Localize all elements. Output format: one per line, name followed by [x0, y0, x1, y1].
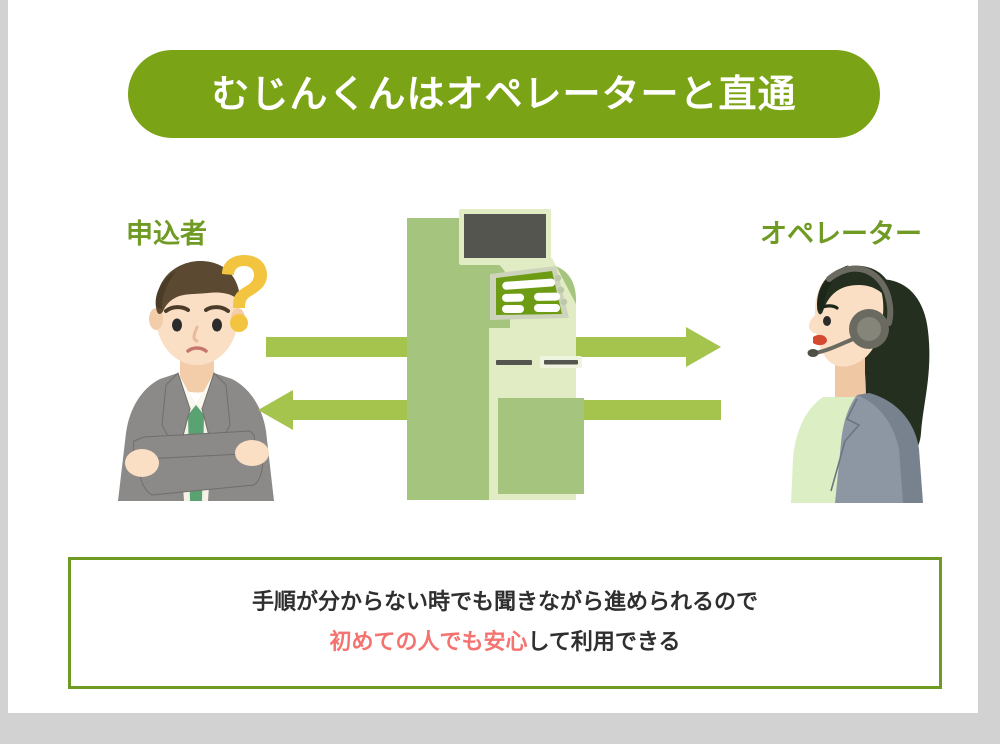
note-line-1: 手順が分からない時でも聞きながら進められるので: [252, 591, 758, 615]
kiosk-svg: [406, 208, 596, 500]
title-pill: むじんくんはオペレーターと直通: [128, 50, 880, 138]
note-accent-text: 初めての人でも安心: [330, 630, 528, 655]
label-operator: オペレーター: [760, 212, 922, 251]
slide-card: むじんくんはオペレーターと直通 申込者 オペレーター: [8, 0, 978, 713]
kiosk-illustration: [406, 208, 596, 500]
page-title: むじんくんはオペレーターと直通: [211, 75, 796, 113]
note-line-2: 初めての人でも安心して利用できる: [330, 631, 681, 655]
label-applicant: 申込者: [126, 212, 207, 251]
operator-figure-svg: [773, 253, 958, 503]
operator-illustration: [773, 253, 958, 503]
question-mark-glyph: [213, 253, 275, 333]
note-rest-text: して利用できる: [528, 630, 681, 655]
note-box: 手順が分からない時でも聞きながら進められるので 初めての人でも安心して利用できる: [68, 557, 942, 689]
question-mark-icon: [213, 253, 275, 333]
